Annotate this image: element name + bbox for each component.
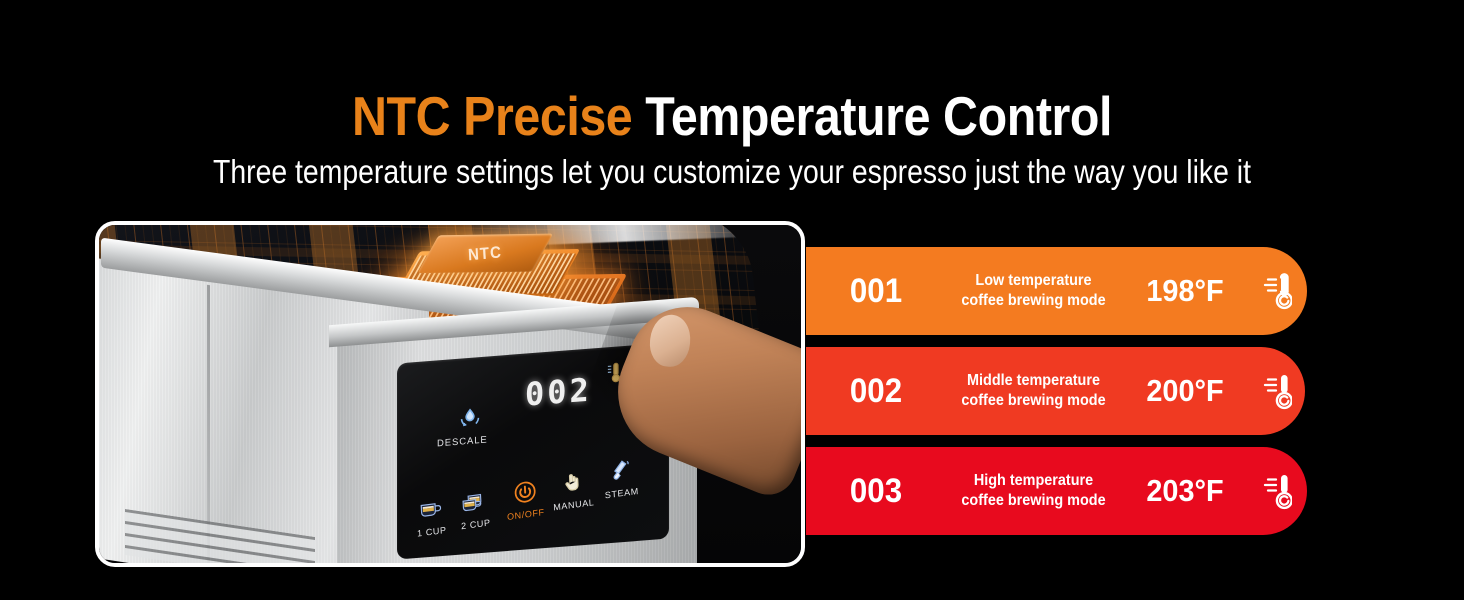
panel-button-steam[interactable]: STEAM xyxy=(596,453,646,501)
product-photo: NTC 002 xyxy=(99,225,801,563)
panel-button-on-off[interactable]: ON/OFF xyxy=(500,475,550,523)
panel-button-row: 1 CUP xyxy=(407,457,669,551)
steam-wand-icon xyxy=(596,453,645,487)
single-cup-icon xyxy=(406,492,455,526)
panel-button-label: STEAM xyxy=(598,485,646,501)
temperature-mode-row[interactable]: 003 High temperature coffee brewing mode… xyxy=(806,447,1307,535)
mode-number: 002 xyxy=(812,372,941,411)
mode-description-line1: Low temperature xyxy=(952,271,1115,291)
mode-description: Low temperature coffee brewing mode xyxy=(952,271,1115,311)
thermometer-icon xyxy=(1249,371,1301,411)
mode-description-line1: High temperature xyxy=(952,471,1115,491)
mode-display: 002 xyxy=(525,370,592,413)
panel-button-label: 1 CUP xyxy=(408,524,456,540)
title-plain-text: Temperature Control xyxy=(632,85,1112,147)
power-icon xyxy=(500,475,549,509)
hand-icon xyxy=(548,465,597,499)
temperature-mode-row[interactable]: 001 Low temperature coffee brewing mode … xyxy=(806,247,1307,335)
panel-button-2-cup[interactable]: 2 CUP xyxy=(450,484,500,532)
chip-label: NTC xyxy=(468,243,503,265)
mode-temperature: 203°F xyxy=(1125,473,1244,509)
title-accent-text: NTC Precise xyxy=(352,85,632,147)
temperature-mode-row[interactable]: 002 Middle temperature coffee brewing mo… xyxy=(806,347,1305,435)
mode-description-line2: coffee brewing mode xyxy=(952,291,1115,311)
mode-description-line2: coffee brewing mode xyxy=(952,391,1115,411)
double-cup-icon xyxy=(450,484,499,518)
panel-button-label: ON/OFF xyxy=(502,506,550,522)
chip-die: NTC xyxy=(418,234,554,274)
descale-label: DESCALE xyxy=(437,434,488,449)
mode-temperature: 200°F xyxy=(1125,373,1244,409)
promo-banner: NTC Precise Temperature Control Three te… xyxy=(0,0,1464,600)
product-photo-frame: NTC 002 xyxy=(95,221,805,567)
mode-number: 001 xyxy=(812,272,941,311)
heading-block: NTC Precise Temperature Control Three te… xyxy=(0,88,1464,190)
panel-button-label: 2 CUP xyxy=(452,516,500,532)
panel-button-label: MANUAL xyxy=(550,497,598,513)
fingernail xyxy=(648,313,693,369)
thermometer-icon xyxy=(1249,471,1301,511)
page-title: NTC Precise Temperature Control xyxy=(88,88,1376,145)
mode-description-line2: coffee brewing mode xyxy=(952,491,1115,511)
mode-description: Middle temperature coffee brewing mode xyxy=(952,371,1115,411)
mode-description: High temperature coffee brewing mode xyxy=(952,471,1115,511)
mode-description-line1: Middle temperature xyxy=(952,371,1115,391)
panel-button-1-cup[interactable]: 1 CUP xyxy=(406,492,456,540)
thermometer-icon xyxy=(1249,271,1301,311)
mode-temperature: 198°F xyxy=(1125,273,1244,309)
temperature-mode-list: 001 Low temperature coffee brewing mode … xyxy=(806,247,1311,543)
panel-button-manual[interactable]: MANUAL xyxy=(548,465,598,513)
mode-number: 003 xyxy=(812,472,941,511)
page-subtitle: Three temperature settings let you custo… xyxy=(102,154,1361,190)
water-drop-recycle-icon[interactable] xyxy=(457,403,483,431)
